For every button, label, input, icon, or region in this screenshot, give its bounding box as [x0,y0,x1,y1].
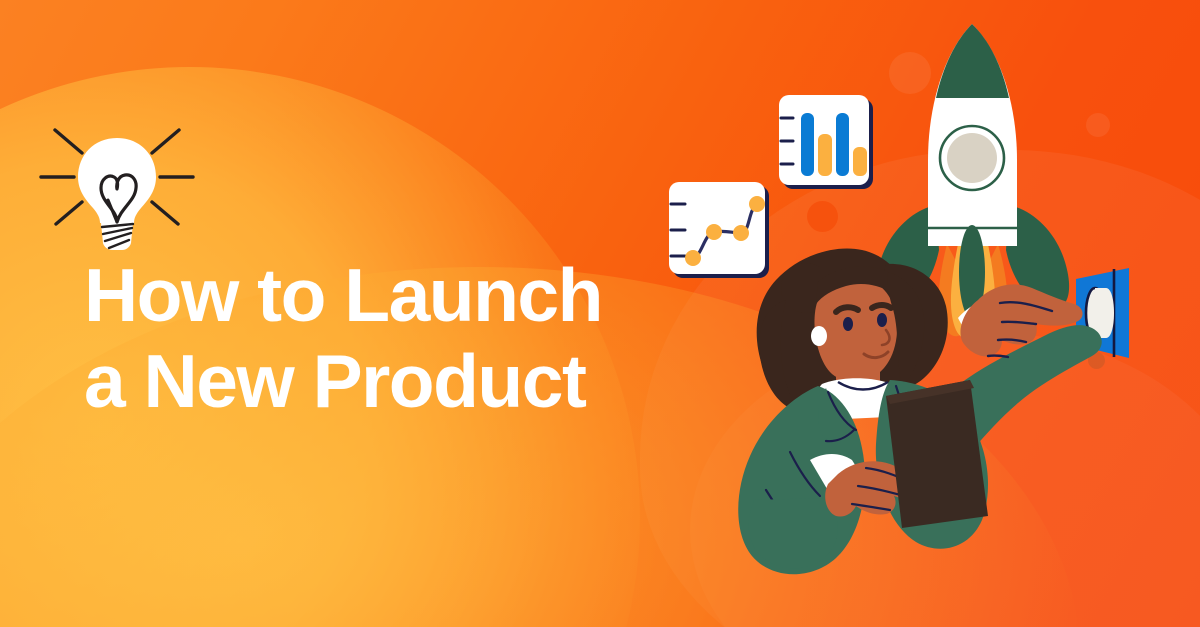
businesswoman-with-tablet-icon [738,248,1102,574]
lightbulb-heart-icon [38,122,196,250]
hero-illustration [640,0,1200,627]
line-chart-card-icon [669,182,769,278]
bar-chart-card-icon [779,95,873,189]
page-title: How to Launch a New Product [84,252,644,424]
promo-banner: How to Launch a New Product [0,0,1200,627]
